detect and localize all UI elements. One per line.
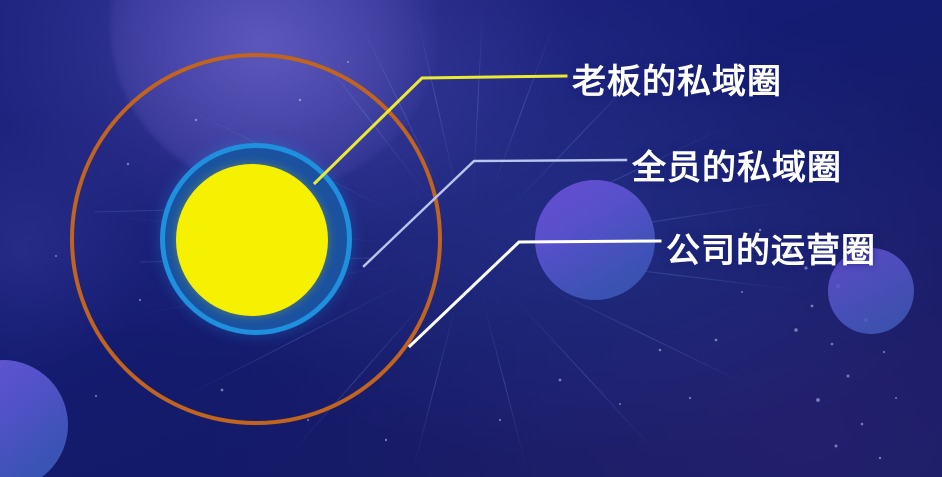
decorative-orb-right [535,180,655,300]
callout-label-all-staff-private-domain: 全员的私域圈 [632,140,842,189]
infographic-canvas: 老板的私域圈 全员的私域圈 公司的运营圈 [0,0,942,477]
ring-inner-boss-private-domain [176,164,328,316]
callout-label-company-operation: 公司的运营圈 [666,223,876,272]
callout-label-boss-private-domain: 老板的私域圈 [572,54,782,103]
